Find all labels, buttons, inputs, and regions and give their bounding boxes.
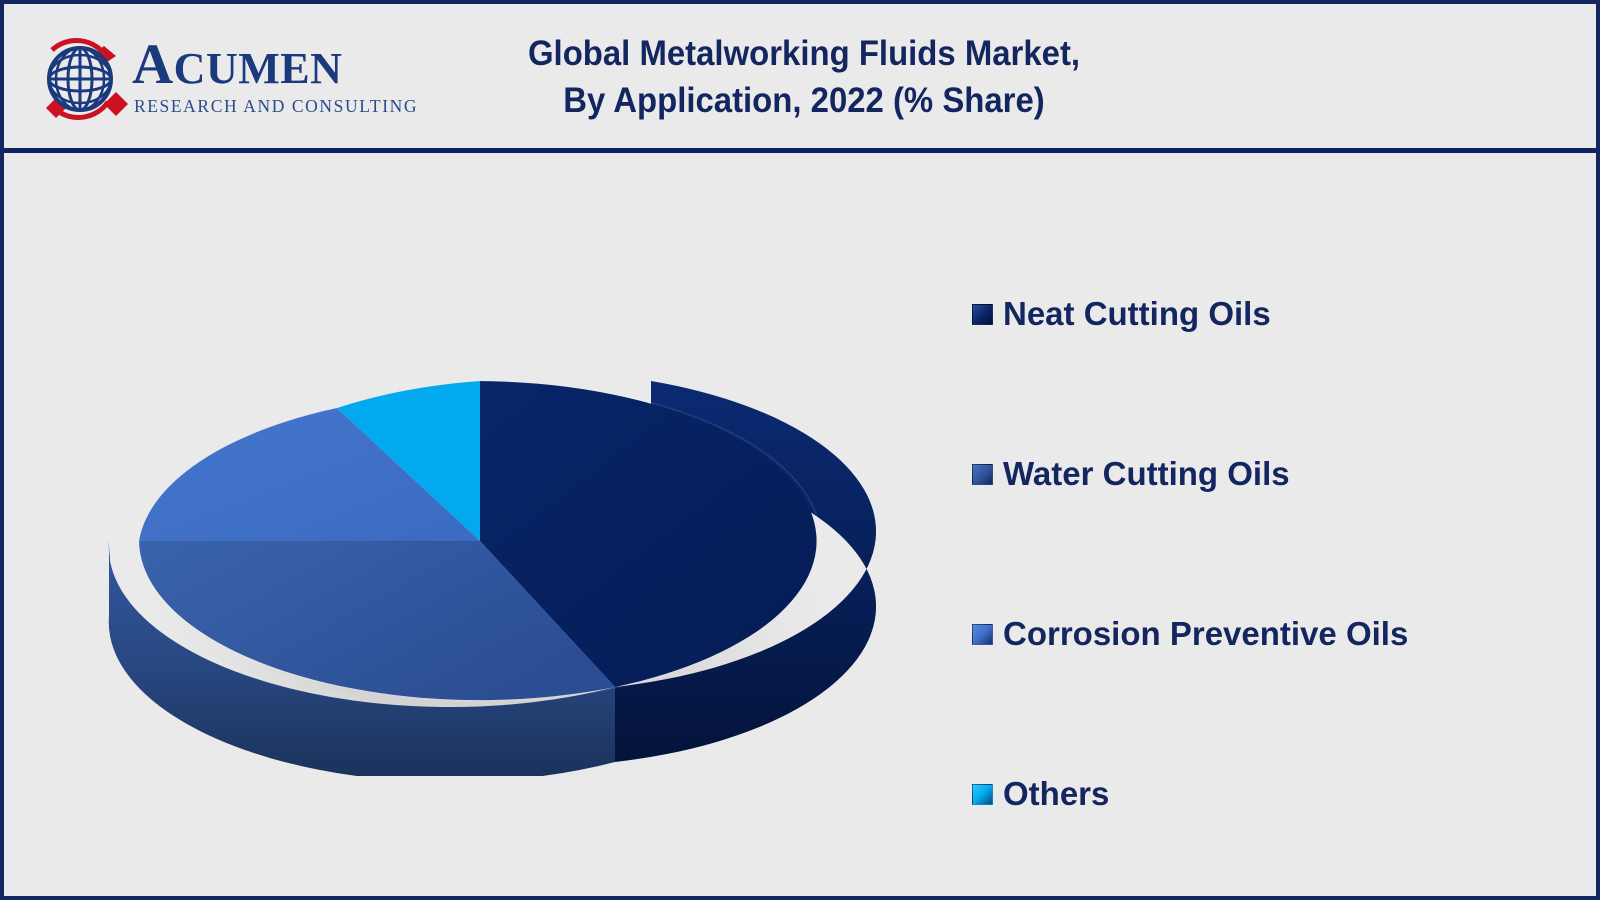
legend-item-water-cutting-oils[interactable]: Water Cutting Oils — [972, 394, 1552, 554]
brand-name: ACUMEN — [132, 34, 342, 100]
legend-item-others[interactable]: Others — [972, 714, 1552, 874]
legend-item-neat-cutting-oils[interactable]: Neat Cutting Oils — [972, 234, 1552, 394]
page-title-line-2: By Application, 2022 (% Share) — [428, 77, 1180, 124]
page-title-line-1: Global Metalworking Fluids Market, — [428, 30, 1180, 77]
chart-legend: Neat Cutting Oils Water Cutting Oils Cor… — [972, 234, 1552, 874]
chart-page: ACUMEN RESEARCH AND CONSULTING Global Me… — [0, 0, 1600, 900]
pie-chart-svg — [94, 256, 894, 776]
globe-logo-icon — [28, 30, 132, 128]
legend-swatch-icon — [972, 784, 993, 805]
legend-item-corrosion-preventive-oils[interactable]: Corrosion Preventive Oils — [972, 554, 1552, 714]
pie-chart — [94, 256, 894, 776]
page-title: Global Metalworking Fluids Market, By Ap… — [428, 30, 1180, 124]
brand-logo: ACUMEN RESEARCH AND CONSULTING — [28, 26, 378, 130]
legend-label: Others — [1003, 776, 1109, 812]
brand-name-cap: A — [132, 33, 174, 96]
legend-swatch-icon — [972, 304, 993, 325]
legend-swatch-icon — [972, 464, 993, 485]
header-divider — [4, 148, 1596, 153]
brand-wordmark: ACUMEN RESEARCH AND CONSULTING — [132, 34, 382, 124]
brand-name-rest: CUMEN — [174, 44, 343, 93]
legend-label: Neat Cutting Oils — [1003, 296, 1271, 332]
legend-label: Water Cutting Oils — [1003, 456, 1290, 492]
brand-tagline: RESEARCH AND CONSULTING — [134, 96, 418, 117]
legend-label: Corrosion Preventive Oils — [1003, 616, 1408, 652]
legend-swatch-icon — [972, 624, 993, 645]
chart-area: Neat Cutting Oils Water Cutting Oils Cor… — [4, 156, 1596, 900]
header-bar: ACUMEN RESEARCH AND CONSULTING Global Me… — [4, 4, 1596, 152]
